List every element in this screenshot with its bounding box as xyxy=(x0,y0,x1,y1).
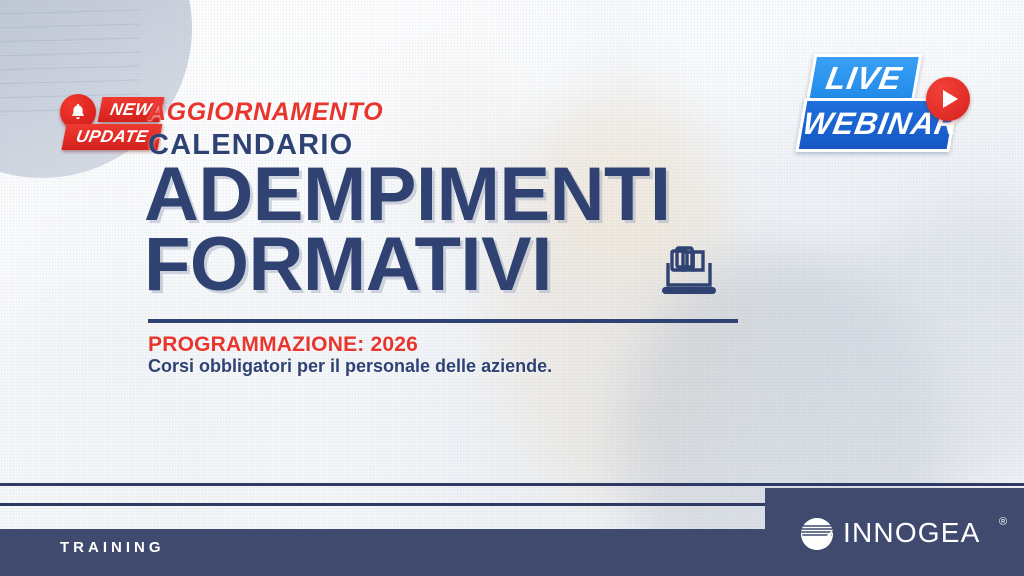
programme-text: PROGRAMMAZIONE: 2026 xyxy=(148,333,418,357)
play-triangle xyxy=(943,90,958,108)
kicker-text: AGGIORNAMENTO xyxy=(148,98,383,127)
play-button-icon[interactable] xyxy=(926,77,970,121)
divider-line-upper xyxy=(0,483,1024,486)
brand-name: INNOGEA xyxy=(843,517,981,549)
logo-panel: INNOGEA ® xyxy=(765,488,1024,576)
live-label: LIVE xyxy=(806,54,923,104)
live-webinar-badge[interactable]: LIVE WEBINAR xyxy=(800,50,980,158)
footer-category-label: TRAINING xyxy=(60,539,165,556)
description-text: Corsi obbligatori per il personale delle… xyxy=(148,356,552,377)
title-line-2: FORMATIVI xyxy=(144,230,884,300)
innogea-circle-logo xyxy=(801,518,833,550)
title-divider xyxy=(148,319,738,323)
registered-mark: ® xyxy=(999,516,1007,528)
page-title: ADEMPIMENTI FORMATIVI xyxy=(144,160,884,300)
banner-canvas: NEW UPDATE AGGIORNAMENTO CALENDARIO ADEM… xyxy=(0,0,1024,576)
book-on-laptop-icon xyxy=(655,243,723,305)
